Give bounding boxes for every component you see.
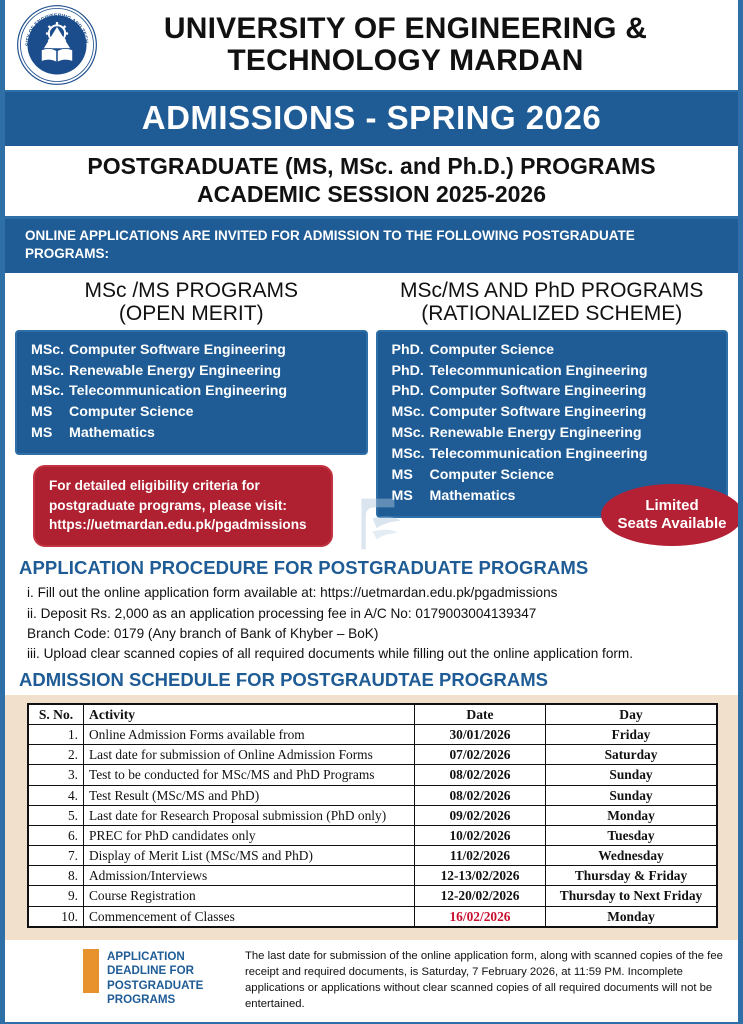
- academic-session-line: ACADEMIC SESSION 2025-2026: [5, 181, 738, 209]
- row-day: Friday: [546, 725, 718, 745]
- row-activity: Last date for submission of Online Admis…: [84, 745, 415, 765]
- open-merit-column: MSc /MS PROGRAMS (OPEN MERIT) MSc.Comput…: [15, 279, 368, 548]
- row-day: Thursday & Friday: [546, 866, 718, 886]
- program-name: Renewable Energy Engineering: [430, 425, 642, 441]
- row-sno: 5.: [28, 805, 84, 825]
- procedure-step: Branch Code: 0179 (Any branch of Bank of…: [27, 624, 728, 644]
- program-item: MSc.Computer Software Engineering: [392, 402, 717, 423]
- program-name: Computer Software Engineering: [430, 383, 647, 399]
- row-date: 07/02/2026: [415, 745, 546, 765]
- program-code: PhD.: [392, 361, 430, 382]
- seats-line1: Limited: [618, 497, 727, 515]
- program-item: PhD.Computer Science: [392, 340, 717, 361]
- application-procedure-heading: APPLICATION PROCEDURE FOR POSTGRADUATE P…: [5, 551, 738, 581]
- deadline-accent-bar: [83, 949, 99, 993]
- row-activity: Online Admission Forms available from: [84, 725, 415, 745]
- open-merit-heading: MSc /MS PROGRAMS (OPEN MERIT): [15, 279, 368, 330]
- row-sno: 9.: [28, 886, 84, 906]
- deadline-label-line1: APPLICATION DEADLINE FOR: [107, 950, 237, 979]
- invitation-line1: ONLINE APPLICATIONS ARE INVITED FOR ADMI…: [25, 227, 722, 245]
- university-name-line2: TECHNOLOGY MARDAN: [109, 45, 702, 77]
- program-code: MSc.: [31, 361, 69, 382]
- application-procedure-steps: i. Fill out the online application form …: [5, 581, 738, 669]
- admission-advertisement-poster: UNIVERSITY OF ENGINEERING AND TECHNOLOGY…: [0, 0, 743, 1024]
- row-date: 12-13/02/2026: [415, 866, 546, 886]
- row-activity: Admission/Interviews: [84, 866, 415, 886]
- application-deadline-note: APPLICATION DEADLINE FOR POSTGRADUATE PR…: [5, 940, 738, 1024]
- row-day: Wednesday: [546, 846, 718, 866]
- university-crest-icon: UNIVERSITY OF ENGINEERING AND TECHNOLOGY…: [16, 4, 98, 86]
- eligibility-url[interactable]: https://uetmardan.edu.pk/pgadmissions: [49, 515, 319, 535]
- table-row: 10. Commencement of Classes 16/02/2026 M…: [28, 906, 717, 927]
- admission-schedule-table: S. No. Activity Date Day 1. Online Admis…: [27, 703, 718, 928]
- program-item: MSc.Renewable Energy Engineering: [31, 361, 356, 382]
- program-name: Computer Science: [430, 467, 555, 483]
- seats-line2: Seats Available: [618, 515, 727, 533]
- program-name: Computer Science: [430, 342, 555, 358]
- eligibility-line1: For detailed eligibility criteria for: [49, 476, 319, 496]
- deadline-description: The last date for submission of the onli…: [237, 948, 724, 1012]
- program-code: MSc.: [392, 402, 430, 423]
- program-code: MS: [31, 423, 69, 444]
- procedure-step: i. Fill out the online application form …: [27, 583, 728, 603]
- table-row: 6. PREC for PhD candidates only 10/02/20…: [28, 825, 717, 845]
- column-header-activity: Activity: [84, 704, 415, 725]
- poster-header: UNIVERSITY OF ENGINEERING AND TECHNOLOGY…: [5, 0, 738, 92]
- row-date: 09/02/2026: [415, 805, 546, 825]
- program-name: Computer Software Engineering: [430, 404, 647, 420]
- limited-seats-badge: Limited Seats Available: [601, 484, 743, 546]
- row-sno: 8.: [28, 866, 84, 886]
- rationalized-heading-line1: MSc/MS AND PhD PROGRAMS: [376, 279, 729, 303]
- table-row: 7. Display of Merit List (MSc/MS and PhD…: [28, 846, 717, 866]
- row-activity: Test to be conducted for MSc/MS and PhD …: [84, 765, 415, 785]
- invitation-line2: PROGRAMS:: [25, 245, 722, 263]
- program-name: Mathematics: [69, 425, 155, 441]
- admissions-banner: ADMISSIONS - SPRING 2026: [5, 92, 738, 146]
- table-header-row: S. No. Activity Date Day: [28, 704, 717, 725]
- table-row: 3. Test to be conducted for MSc/MS and P…: [28, 765, 717, 785]
- postgraduate-programs-line: POSTGRADUATE (MS, MSc. and Ph.D.) PROGRA…: [5, 153, 738, 181]
- program-item: MSc.Computer Software Engineering: [31, 340, 356, 361]
- program-code: MSc.: [392, 444, 430, 465]
- row-sno: 4.: [28, 785, 84, 805]
- deadline-label-line2: POSTGRADUATE PROGRAMS: [107, 979, 237, 1008]
- program-item: MSComputer Science: [392, 465, 717, 486]
- row-sno: 10.: [28, 906, 84, 927]
- row-date: 30/01/2026: [415, 725, 546, 745]
- open-merit-program-list: MSc.Computer Software Engineering MSc.Re…: [15, 330, 368, 455]
- row-date: 08/02/2026: [415, 785, 546, 805]
- table-row: 8. Admission/Interviews 12-13/02/2026 Th…: [28, 866, 717, 886]
- program-item: MSMathematics: [31, 423, 356, 444]
- column-header-date: Date: [415, 704, 546, 725]
- program-item: MSComputer Science: [31, 402, 356, 423]
- row-activity: Display of Merit List (MSc/MS and PhD): [84, 846, 415, 866]
- admission-schedule-section: S. No. Activity Date Day 1. Online Admis…: [5, 695, 738, 940]
- row-activity: Course Registration: [84, 886, 415, 906]
- program-code: MSc.: [31, 340, 69, 361]
- program-item: PhD.Computer Software Engineering: [392, 381, 717, 402]
- program-code: MS: [392, 486, 430, 507]
- program-name: Computer Science: [69, 404, 194, 420]
- program-name: Telecommunication Engineering: [69, 383, 287, 399]
- postgraduate-title-band: POSTGRADUATE (MS, MSc. and Ph.D.) PROGRA…: [5, 146, 738, 219]
- program-code: MSc.: [31, 381, 69, 402]
- row-day: Tuesday: [546, 825, 718, 845]
- procedure-step: iii. Upload clear scanned copies of all …: [27, 644, 728, 664]
- open-merit-heading-line2: (OPEN MERIT): [15, 302, 368, 326]
- university-name-line1: UNIVERSITY OF ENGINEERING &: [109, 13, 702, 45]
- row-sno: 1.: [28, 725, 84, 745]
- rationalized-heading: MSc/MS AND PhD PROGRAMS (RATIONALIZED SC…: [376, 279, 729, 330]
- row-day: Monday: [546, 906, 718, 927]
- row-date: 10/02/2026: [415, 825, 546, 845]
- row-sno: 7.: [28, 846, 84, 866]
- column-header-day: Day: [546, 704, 718, 725]
- row-date: 08/02/2026: [415, 765, 546, 785]
- row-activity: Commencement of Classes: [84, 906, 415, 927]
- program-name: Telecommunication Engineering: [430, 446, 648, 462]
- row-date: 12-20/02/2026: [415, 886, 546, 906]
- table-row: 9. Course Registration 12-20/02/2026 Thu…: [28, 886, 717, 906]
- program-item: PhD.Telecommunication Engineering: [392, 361, 717, 382]
- program-code: PhD.: [392, 381, 430, 402]
- admissions-banner-text: ADMISSIONS - SPRING 2026: [5, 99, 738, 137]
- admission-schedule-heading: ADMISSION SCHEDULE FOR POSTGRAUDTAE PROG…: [5, 669, 738, 695]
- deadline-label: APPLICATION DEADLINE FOR POSTGRADUATE PR…: [99, 948, 237, 1008]
- row-sno: 3.: [28, 765, 84, 785]
- invitation-text: ONLINE APPLICATIONS ARE INVITED FOR ADMI…: [5, 219, 738, 272]
- program-item: MSc.Telecommunication Engineering: [392, 444, 717, 465]
- open-merit-heading-line1: MSc /MS PROGRAMS: [15, 279, 368, 303]
- eligibility-criteria-box[interactable]: For detailed eligibility criteria for po…: [33, 465, 333, 547]
- rationalized-heading-line2: (RATIONALIZED SCHEME): [376, 302, 729, 326]
- table-row: 1. Online Admission Forms available from…: [28, 725, 717, 745]
- row-activity: Test Result (MSc/MS and PhD): [84, 785, 415, 805]
- table-row: 2. Last date for submission of Online Ad…: [28, 745, 717, 765]
- row-date: 11/02/2026: [415, 846, 546, 866]
- program-name: Renewable Energy Engineering: [69, 363, 281, 379]
- program-code: MS: [31, 402, 69, 423]
- eligibility-line2: postgraduate programs, please visit:: [49, 496, 319, 516]
- university-name: UNIVERSITY OF ENGINEERING & TECHNOLOGY M…: [109, 13, 738, 78]
- row-day: Saturday: [546, 745, 718, 765]
- program-code: PhD.: [392, 340, 430, 361]
- table-row: 5. Last date for Research Proposal submi…: [28, 805, 717, 825]
- procedure-step: ii. Deposit Rs. 2,000 as an application …: [27, 604, 728, 624]
- program-item: MSc.Renewable Energy Engineering: [392, 423, 717, 444]
- program-code: MS: [392, 465, 430, 486]
- row-activity: Last date for Research Proposal submissi…: [84, 805, 415, 825]
- logo-container: UNIVERSITY OF ENGINEERING AND TECHNOLOGY…: [5, 0, 109, 90]
- row-sno: 6.: [28, 825, 84, 845]
- row-day: Sunday: [546, 765, 718, 785]
- row-day: Thursday to Next Friday: [546, 886, 718, 906]
- row-date: 16/02/2026: [415, 906, 546, 927]
- row-activity: PREC for PhD candidates only: [84, 825, 415, 845]
- program-name: Computer Software Engineering: [69, 342, 286, 358]
- row-sno: 2.: [28, 745, 84, 765]
- row-day: Monday: [546, 805, 718, 825]
- program-item: MSc.Telecommunication Engineering: [31, 381, 356, 402]
- column-header-sno: S. No.: [28, 704, 84, 725]
- table-row: 4. Test Result (MSc/MS and PhD) 08/02/20…: [28, 785, 717, 805]
- row-day: Sunday: [546, 785, 718, 805]
- program-code: MSc.: [392, 423, 430, 444]
- program-name: Mathematics: [430, 488, 516, 504]
- program-name: Telecommunication Engineering: [430, 363, 648, 379]
